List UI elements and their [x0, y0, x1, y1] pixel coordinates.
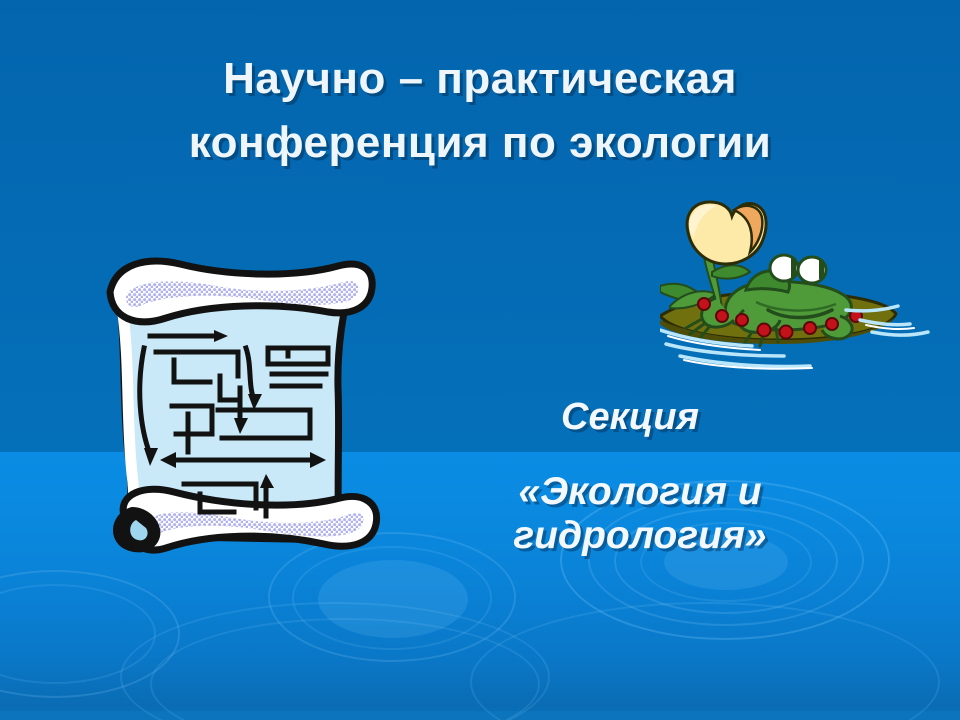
section-name: «Экология и гидрология»: [440, 470, 840, 557]
section-label: Секция: [440, 396, 820, 439]
page-title-line-2: конференция по экологии: [0, 120, 960, 166]
frog-on-island-icon: [660, 198, 950, 373]
scroll-blueprint-icon: [88, 248, 388, 558]
page-title-line-1: Научно – практическая: [0, 56, 960, 102]
presentation-slide: Научно – практическая конференция по эко…: [0, 0, 960, 720]
